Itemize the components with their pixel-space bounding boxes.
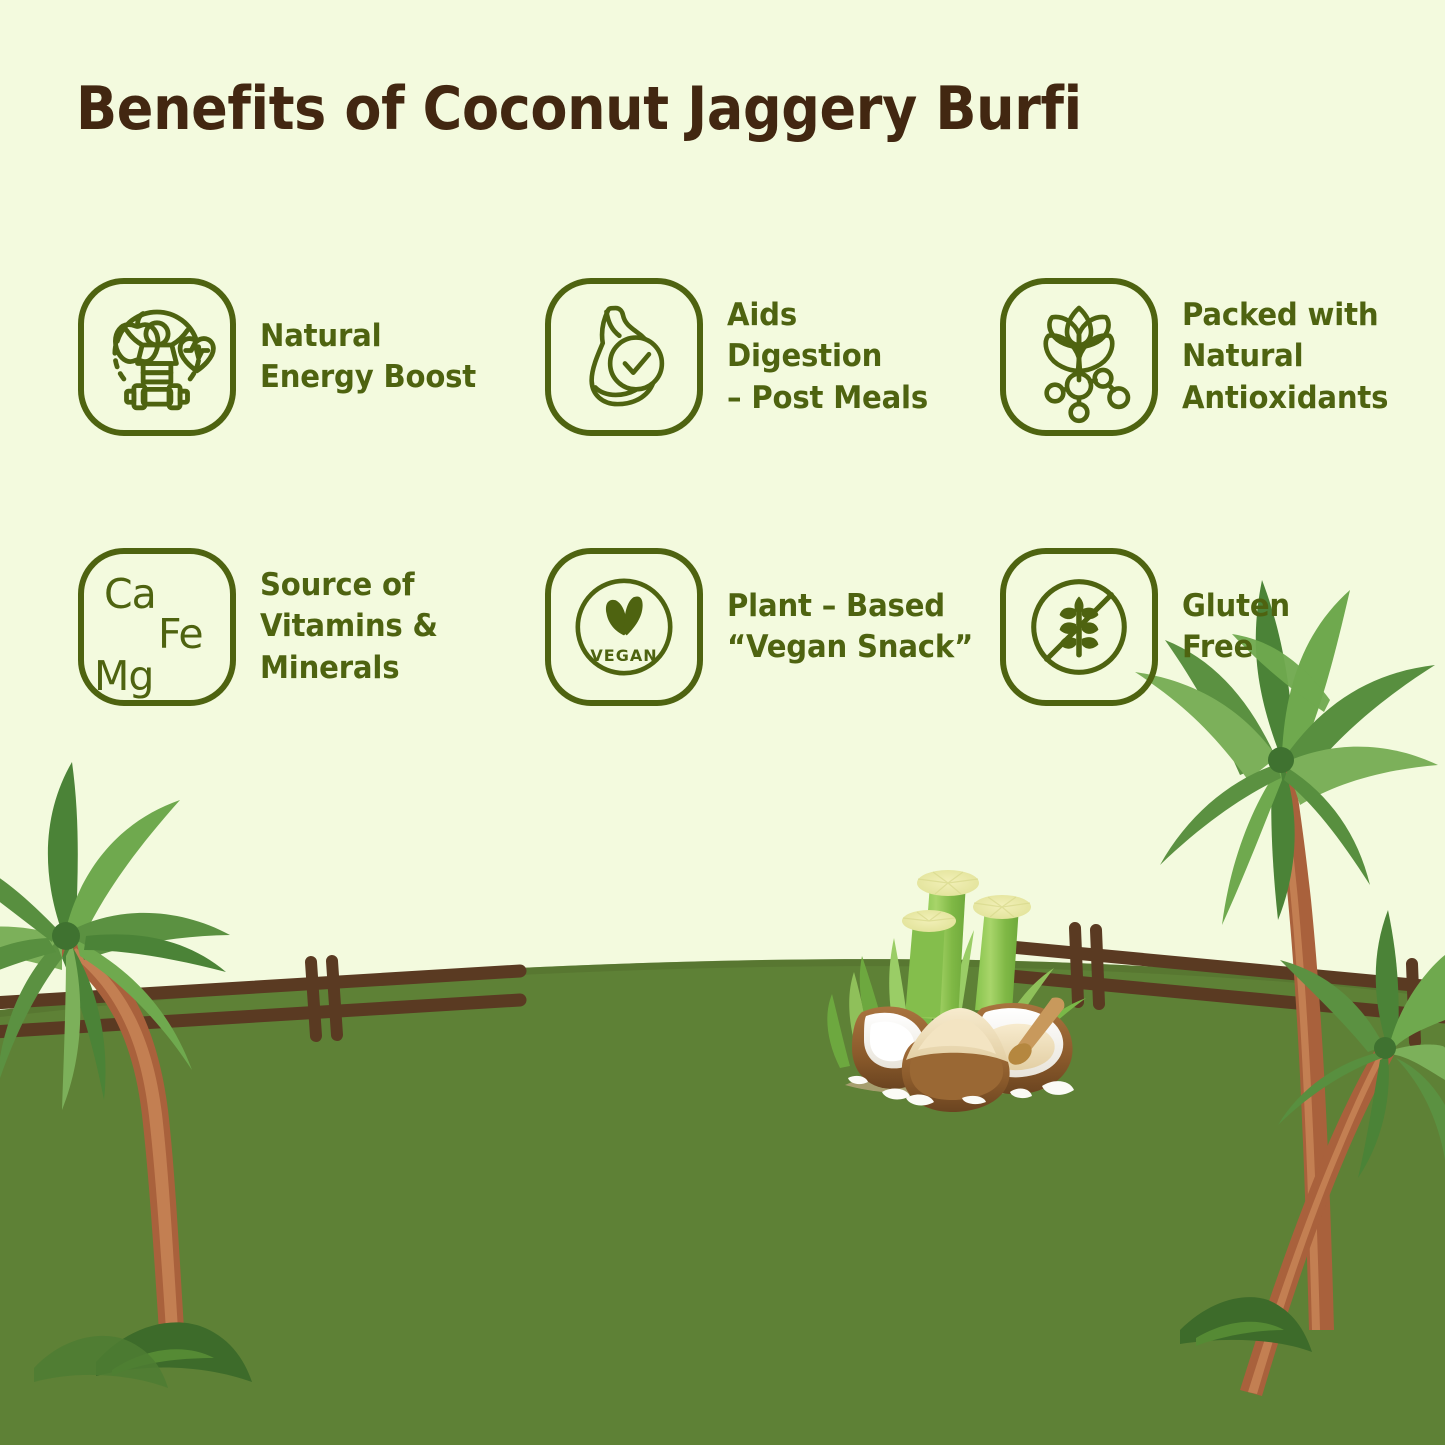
stomach-check-icon	[545, 278, 703, 436]
benefit-label: Aids Digestion – Post Meals	[727, 295, 928, 419]
benefit-item-antioxidants: Packed with Natural Antioxidants	[1000, 278, 1401, 436]
benefit-label: Plant – Based “Vegan Snack”	[727, 586, 973, 668]
benefit-label: Packed with Natural Antioxidants	[1182, 295, 1388, 419]
benefit-label: Gluten Free	[1182, 586, 1290, 668]
leaf-molecule-icon	[1000, 278, 1158, 436]
infographic-poster: Benefits of Coconut Jaggery Burfi	[0, 0, 1445, 1445]
minerals-icon: Ca Fe Mg	[78, 548, 236, 706]
mineral-fe-label: Fe	[158, 610, 203, 658]
vegan-badge-text: VEGAN	[551, 646, 697, 665]
mineral-ca-label: Ca	[104, 570, 156, 618]
benefit-item-energy: Natural Energy Boost	[78, 278, 490, 436]
benefit-item-minerals: Ca Fe Mg Source of Vitamins & Minerals	[78, 548, 449, 706]
benefit-item-gluten-free: Gluten Free	[1000, 548, 1297, 706]
benefit-label: Natural Energy Boost	[260, 316, 476, 398]
energy-boost-icon	[78, 278, 236, 436]
benefit-item-vegan: VEGAN Plant – Based “Vegan Snack”	[545, 548, 989, 706]
benefit-item-digestion: Aids Digestion – Post Meals	[545, 278, 941, 436]
page-title: Benefits of Coconut Jaggery Burfi	[76, 74, 1082, 144]
vegan-leaf-icon: VEGAN	[545, 548, 703, 706]
mineral-mg-label: Mg	[94, 652, 153, 700]
benefit-label: Source of Vitamins & Minerals	[260, 565, 438, 689]
no-wheat-icon	[1000, 548, 1158, 706]
